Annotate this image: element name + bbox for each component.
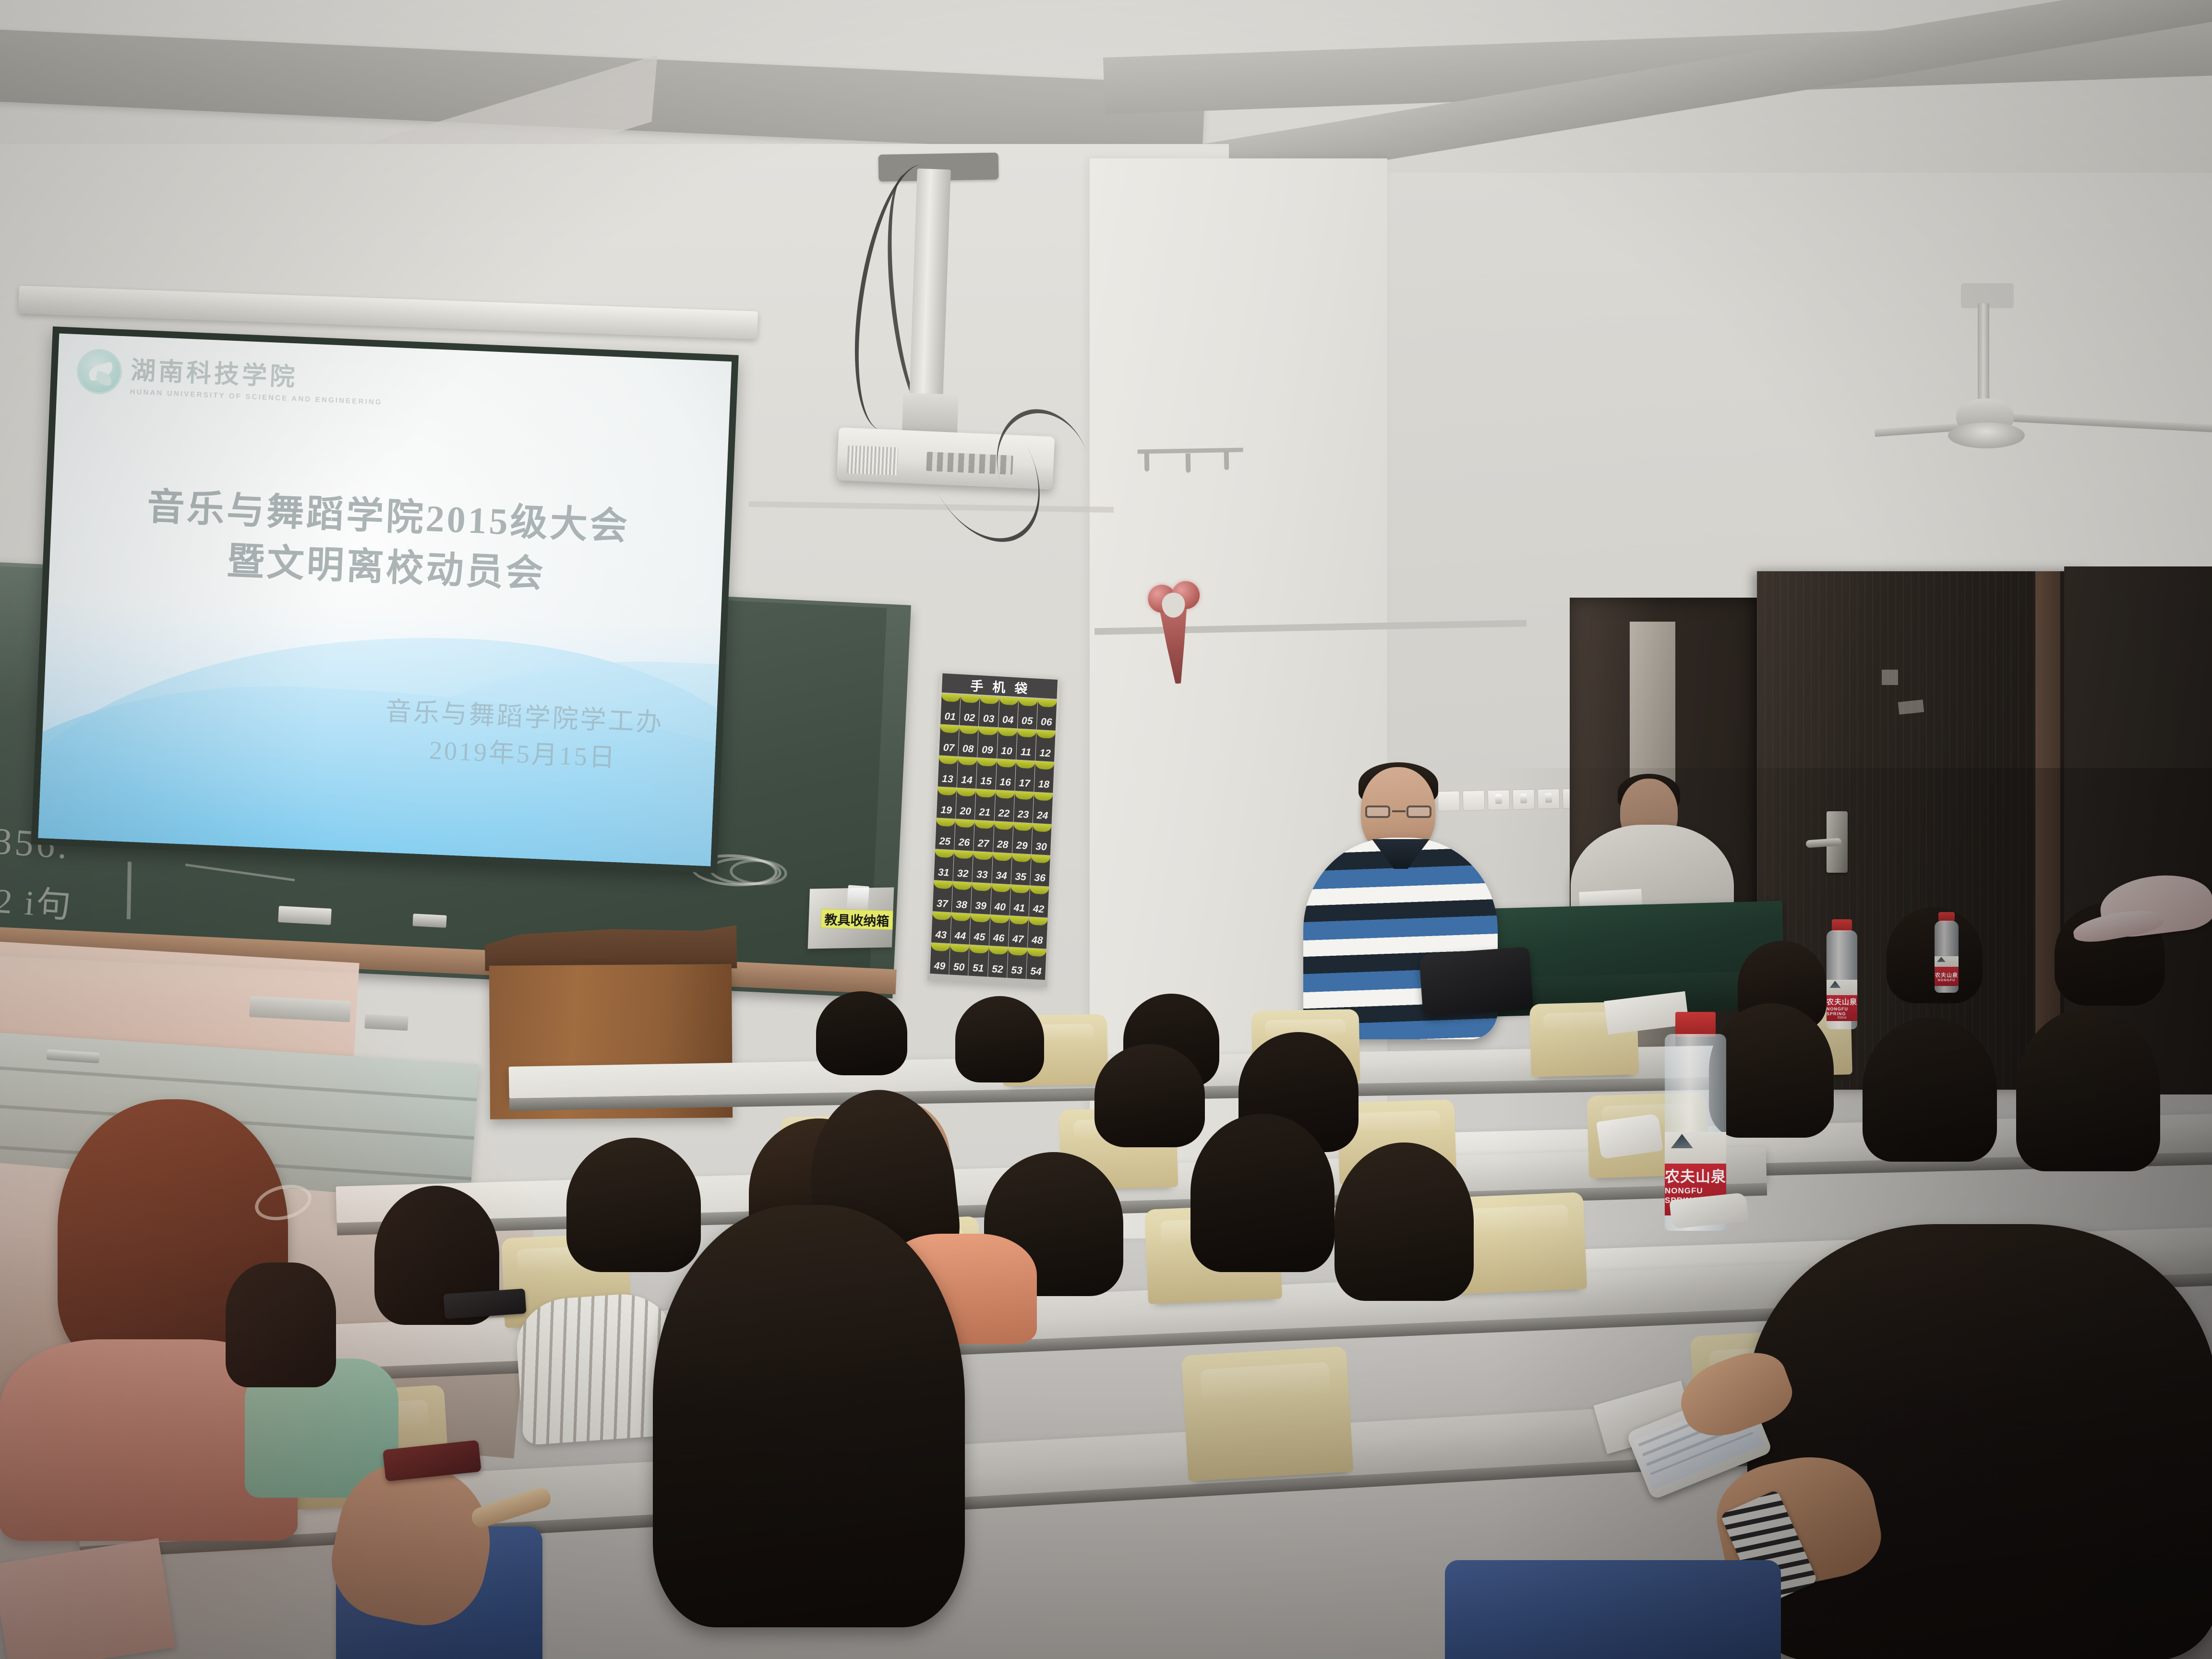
- water-bottle[interactable]: 农夫山泉 NONGFU: [1935, 912, 1959, 994]
- phone-pocket[interactable]: 11: [1016, 729, 1036, 760]
- phone-pocket[interactable]: 32: [953, 851, 974, 882]
- phone-pocket[interactable]: 03: [979, 696, 999, 727]
- door-wall-socket: [1898, 699, 1924, 714]
- projection-screen: 湖南科技学院 HUNAN UNIVERSITY OF SCIENCE AND E…: [31, 326, 739, 873]
- slide-subtitle: 音乐与舞蹈学院学工办 2019年5月15日: [383, 693, 664, 778]
- phone-pocket[interactable]: 50: [949, 944, 969, 975]
- phone-pocket[interactable]: 07: [939, 724, 959, 756]
- chair-sheen: [1463, 1204, 1569, 1234]
- phone-pocket[interactable]: 54: [1026, 948, 1046, 980]
- phone-pocket[interactable]: 53: [1007, 947, 1027, 979]
- phone-pocket[interactable]: 06: [1037, 699, 1057, 731]
- phone-pocket[interactable]: 01: [940, 694, 961, 725]
- phone-pocket[interactable]: 13: [938, 756, 958, 787]
- student-head: [816, 991, 907, 1075]
- pocket-chart-char: 机: [992, 676, 1008, 696]
- black-bag-on-desk[interactable]: [1419, 947, 1534, 1017]
- cabinet-handle[interactable]: [46, 1049, 99, 1063]
- phone-pocket[interactable]: 29: [1012, 822, 1033, 854]
- phone-pocket[interactable]: 17: [1015, 760, 1035, 792]
- tinsel-heart-decoration: [1146, 579, 1211, 693]
- bottle-brand-cn: 农夫山泉: [1935, 971, 1958, 979]
- phone-pocket[interactable]: 42: [1029, 886, 1049, 917]
- ceiling-fan-hub: [1948, 422, 2025, 448]
- wall-hook-icon: [1144, 452, 1150, 471]
- phone-pocket[interactable]: 19: [937, 787, 957, 818]
- student-head: [1190, 1114, 1334, 1272]
- glasses-bridge: [1392, 810, 1406, 812]
- student-head-front-center: [653, 1205, 965, 1627]
- phone-pocket[interactable]: 08: [958, 726, 978, 757]
- student-head: [566, 1138, 701, 1272]
- student-head-front-right: [1747, 1224, 2212, 1659]
- pink-paper-sheet: [0, 1538, 176, 1659]
- bottle-label-top: [1665, 1132, 1726, 1165]
- bottle-brand-en: NONGFU: [1938, 979, 1955, 982]
- phone-pocket-chart: 手 机 袋 0102030405060708091011121314151617…: [927, 671, 1060, 987]
- phone-pocket[interactable]: 31: [934, 849, 954, 881]
- ceiling-fan-downrod: [1978, 303, 1989, 404]
- bottle-cap: [1675, 1012, 1716, 1037]
- student-head: [1094, 1044, 1205, 1147]
- light-switch-panel[interactable]: [1438, 788, 1585, 811]
- phone-pocket[interactable]: 10: [997, 728, 1017, 759]
- mountain-logo-icon: [1671, 1134, 1693, 1148]
- chair-sheen: [1200, 1362, 1331, 1403]
- phone-pocket[interactable]: 34: [992, 853, 1012, 884]
- board-eraser[interactable]: [278, 906, 332, 925]
- phone-pocket[interactable]: 40: [990, 884, 1010, 915]
- phone-pocket[interactable]: 48: [1028, 917, 1048, 949]
- glasses-lens: [1365, 805, 1390, 818]
- classroom-scene: 356. 2 i句 湖南科技学院 HUNAN UNIVERSITY OF SCI…: [0, 0, 2212, 1659]
- equipment-tray: [364, 1014, 408, 1031]
- phone-pocket-grid: 0102030405060708091011121314151617181920…: [930, 694, 1057, 980]
- bottle-label: 农夫山泉 NONGFU: [1935, 967, 1959, 986]
- student-head: [226, 1262, 336, 1387]
- pocket-chart-char: 手: [970, 675, 986, 695]
- bottle-brand-cn: 农夫山泉: [1665, 1165, 1726, 1186]
- classroom-chair[interactable]: [1187, 1349, 1347, 1479]
- mountain-logo-icon: [1937, 957, 1946, 962]
- chair-sheen: [1352, 1110, 1441, 1134]
- light-switch[interactable]: [1488, 790, 1510, 810]
- student-head: [1709, 1003, 1834, 1138]
- phone-pocket[interactable]: 45: [970, 914, 990, 946]
- bottle-label-top: [1827, 980, 1857, 996]
- phone-pocket[interactable]: 26: [954, 819, 974, 851]
- light-switch[interactable]: [1438, 791, 1460, 811]
- student-head: [1334, 1142, 1474, 1301]
- bottle-cap: [1938, 912, 1955, 922]
- door-side-stripe: [2035, 571, 2060, 1090]
- student-head: [2016, 1008, 2160, 1171]
- bottle-volume: 550ml: [1837, 1016, 1846, 1020]
- phone-pocket[interactable]: 09: [978, 727, 998, 758]
- phone-pocket[interactable]: 18: [1034, 761, 1054, 793]
- projector-vent: [847, 445, 898, 476]
- wall-hook-rail: [1132, 445, 1277, 476]
- phone-pocket[interactable]: 41: [1010, 885, 1030, 916]
- pocket-chart-char: 袋: [1014, 678, 1030, 697]
- phone-pocket[interactable]: 44: [950, 913, 971, 944]
- phone-pocket[interactable]: 25: [935, 818, 955, 850]
- light-switch[interactable]: [1513, 789, 1535, 810]
- phone-pocket[interactable]: 16: [996, 759, 1016, 791]
- slide-logo: 湖南科技学院 HUNAN UNIVERSITY OF SCIENCE AND E…: [76, 348, 384, 407]
- projected-slide: 湖南科技学院 HUNAN UNIVERSITY OF SCIENCE AND E…: [38, 334, 732, 866]
- bottle-brand-cn: 农夫山泉: [1827, 997, 1857, 1007]
- phone-pocket[interactable]: 43: [931, 912, 951, 943]
- phone-pocket[interactable]: 05: [1017, 698, 1037, 730]
- phone-pocket[interactable]: 27: [974, 820, 994, 852]
- water-bottle[interactable]: 农夫山泉 NONGFU SPRING 550ml: [1827, 919, 1857, 1031]
- phone-pocket[interactable]: 28: [993, 821, 1013, 853]
- cabinet-seam: [0, 1066, 477, 1102]
- phone-pocket[interactable]: 15: [976, 758, 997, 790]
- phone-pocket[interactable]: 46: [989, 915, 1009, 947]
- phone-pocket[interactable]: 38: [952, 881, 972, 913]
- light-switch[interactable]: [1538, 789, 1560, 809]
- student-head: [955, 996, 1044, 1082]
- slide-logo-text: 湖南科技学院 HUNAN UNIVERSITY OF SCIENCE AND E…: [130, 350, 384, 407]
- phone-pocket[interactable]: 36: [1030, 854, 1050, 886]
- phone-pocket[interactable]: 35: [1011, 854, 1031, 885]
- storage-box-label: 教具收纳箱: [821, 909, 893, 930]
- phone-pocket[interactable]: 23: [1013, 791, 1034, 823]
- phone-pocket[interactable]: 47: [1008, 916, 1028, 948]
- phone-pocket[interactable]: 14: [957, 757, 977, 789]
- phone-pocket[interactable]: 39: [971, 883, 991, 914]
- university-emblem-icon: [76, 348, 123, 395]
- wall-hook-icon: [1224, 451, 1229, 470]
- phone-pocket[interactable]: 22: [994, 790, 1014, 822]
- phone-pocket[interactable]: 33: [973, 852, 993, 883]
- classroom-chair[interactable]: [1445, 1560, 1781, 1659]
- phone-pocket[interactable]: 37: [933, 880, 953, 912]
- light-switch[interactable]: [1463, 790, 1485, 811]
- phone-pocket[interactable]: 02: [960, 695, 980, 726]
- phone-pocket[interactable]: 12: [1035, 730, 1056, 762]
- phone-pocket[interactable]: 21: [975, 789, 995, 821]
- phone-pocket[interactable]: 04: [998, 697, 1018, 728]
- glasses-icon: [1364, 805, 1432, 818]
- student-head: [1863, 1018, 1997, 1162]
- phone-pocket[interactable]: 30: [1032, 824, 1052, 855]
- bottle-brand-en: NONGFU SPRING: [1827, 1007, 1857, 1016]
- phone-pocket[interactable]: 49: [930, 943, 950, 974]
- wall-hook-icon: [1186, 454, 1191, 473]
- phone-pocket[interactable]: 51: [969, 945, 989, 977]
- phone-pocket[interactable]: 24: [1033, 793, 1053, 824]
- bottle-label-top: [1935, 956, 1959, 968]
- board-eraser[interactable]: [412, 914, 446, 928]
- glasses-lens: [1407, 805, 1431, 818]
- door-wall-socket: [1882, 670, 1898, 685]
- mountain-logo-icon: [1829, 981, 1840, 988]
- phone-pocket[interactable]: 52: [988, 946, 1008, 978]
- slide-title: 音乐与舞蹈学院2015级大会 暨文明离校动员会: [49, 477, 726, 607]
- phone-pocket[interactable]: 20: [956, 788, 976, 820]
- bottle-label: 农夫山泉 NONGFU SPRING 550ml: [1827, 995, 1857, 1021]
